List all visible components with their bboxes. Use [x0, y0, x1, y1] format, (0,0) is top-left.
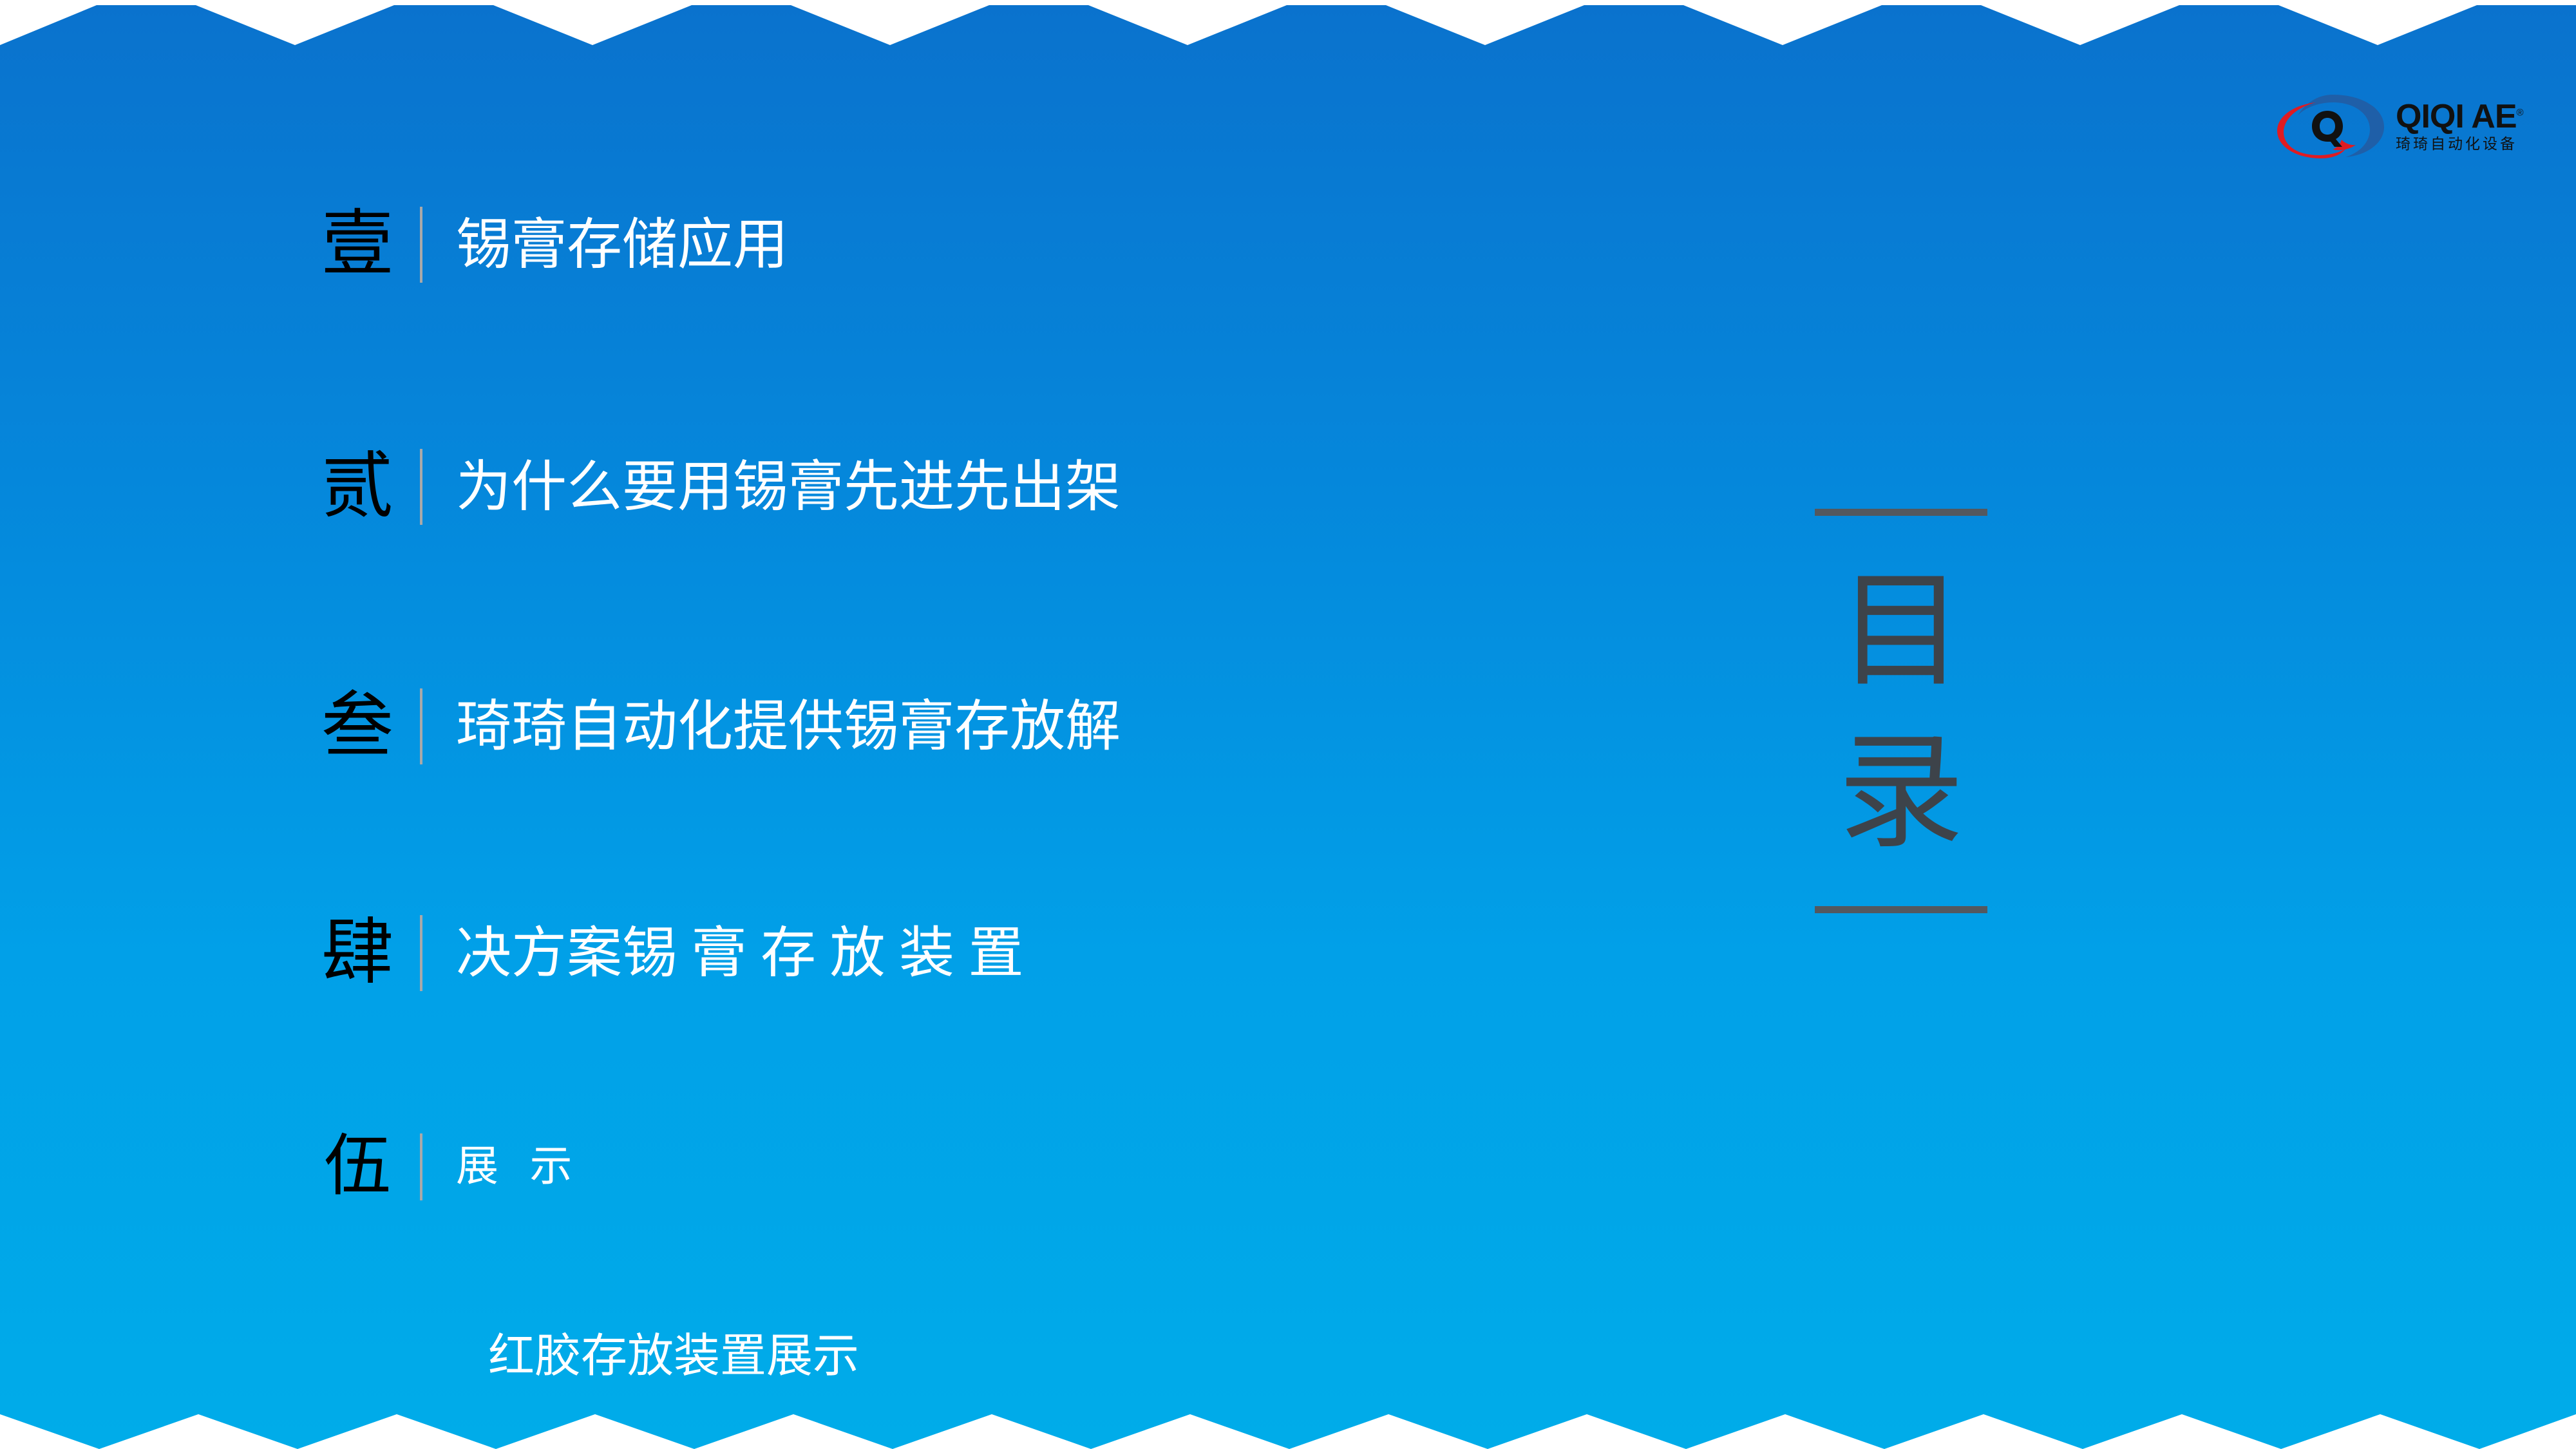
logo-wordmark-text: QIQI AE: [2396, 98, 2517, 135]
toc-item-4[interactable]: 肆 决方案锡 膏 存 放 装 置: [309, 902, 1662, 1005]
toc-item-label: 决方案锡 膏 存 放 装 置: [456, 925, 1024, 981]
registered-trademark-icon: ®: [2517, 108, 2523, 118]
toc-item-divider: [420, 449, 422, 525]
toc-item-label: 琦琦自动化提供锡膏存放解: [456, 699, 1121, 754]
vertical-title-characters: 目 录: [1815, 516, 1987, 906]
vertical-title-rule-bottom: [1815, 906, 1987, 913]
toc-item-number: 肆: [309, 917, 406, 989]
vertical-section-title: 目 录: [1815, 509, 1987, 913]
toc-item-label: 展 示: [456, 1146, 583, 1188]
toc-item-1[interactable]: 壹 锡膏存储应用: [309, 193, 1662, 296]
logo-wordmark: QIQI AE®: [2396, 100, 2523, 133]
company-logo: QIQI AE® 琦琦自动化设备: [2273, 90, 2544, 161]
toc-item-number: 叁: [309, 690, 406, 762]
toc-extra-label[interactable]: 红胶存放装置展示: [488, 1333, 859, 1379]
toc-item-divider: [420, 1133, 422, 1200]
vertical-title-char-2: 录: [1815, 714, 1987, 875]
toc-item-2[interactable]: 贰 为什么要用锡膏先进先出架: [309, 435, 1662, 538]
table-of-contents: 壹 锡膏存储应用 贰 为什么要用锡膏先进先出架 叁 琦琦自动化提供锡膏存放解 肆…: [309, 193, 1662, 1218]
toc-item-divider: [420, 915, 422, 991]
toc-item-divider: [420, 207, 422, 283]
toc-item-3[interactable]: 叁 琦琦自动化提供锡膏存放解: [309, 675, 1662, 778]
toc-item-label: 为什么要用锡膏先进先出架: [456, 459, 1121, 515]
logo-subtitle: 琦琦自动化设备: [2396, 137, 2523, 151]
presentation-slide: QIQI AE® 琦琦自动化设备 壹 锡膏存储应用 贰 为什么要用锡膏先进先出架…: [0, 0, 2576, 1449]
qiqi-logo-mark: [2273, 92, 2388, 160]
toc-item-divider: [420, 688, 422, 764]
toc-item-number: 伍: [309, 1133, 406, 1200]
toc-item-number: 贰: [309, 451, 406, 523]
toc-item-5[interactable]: 伍 展 示: [309, 1115, 1662, 1218]
vertical-title-char-1: 目: [1815, 552, 1987, 714]
vertical-title-rule-top: [1815, 509, 1987, 516]
toc-item-label: 锡膏存储应用: [456, 217, 788, 272]
toc-item-number: 壹: [309, 209, 406, 281]
